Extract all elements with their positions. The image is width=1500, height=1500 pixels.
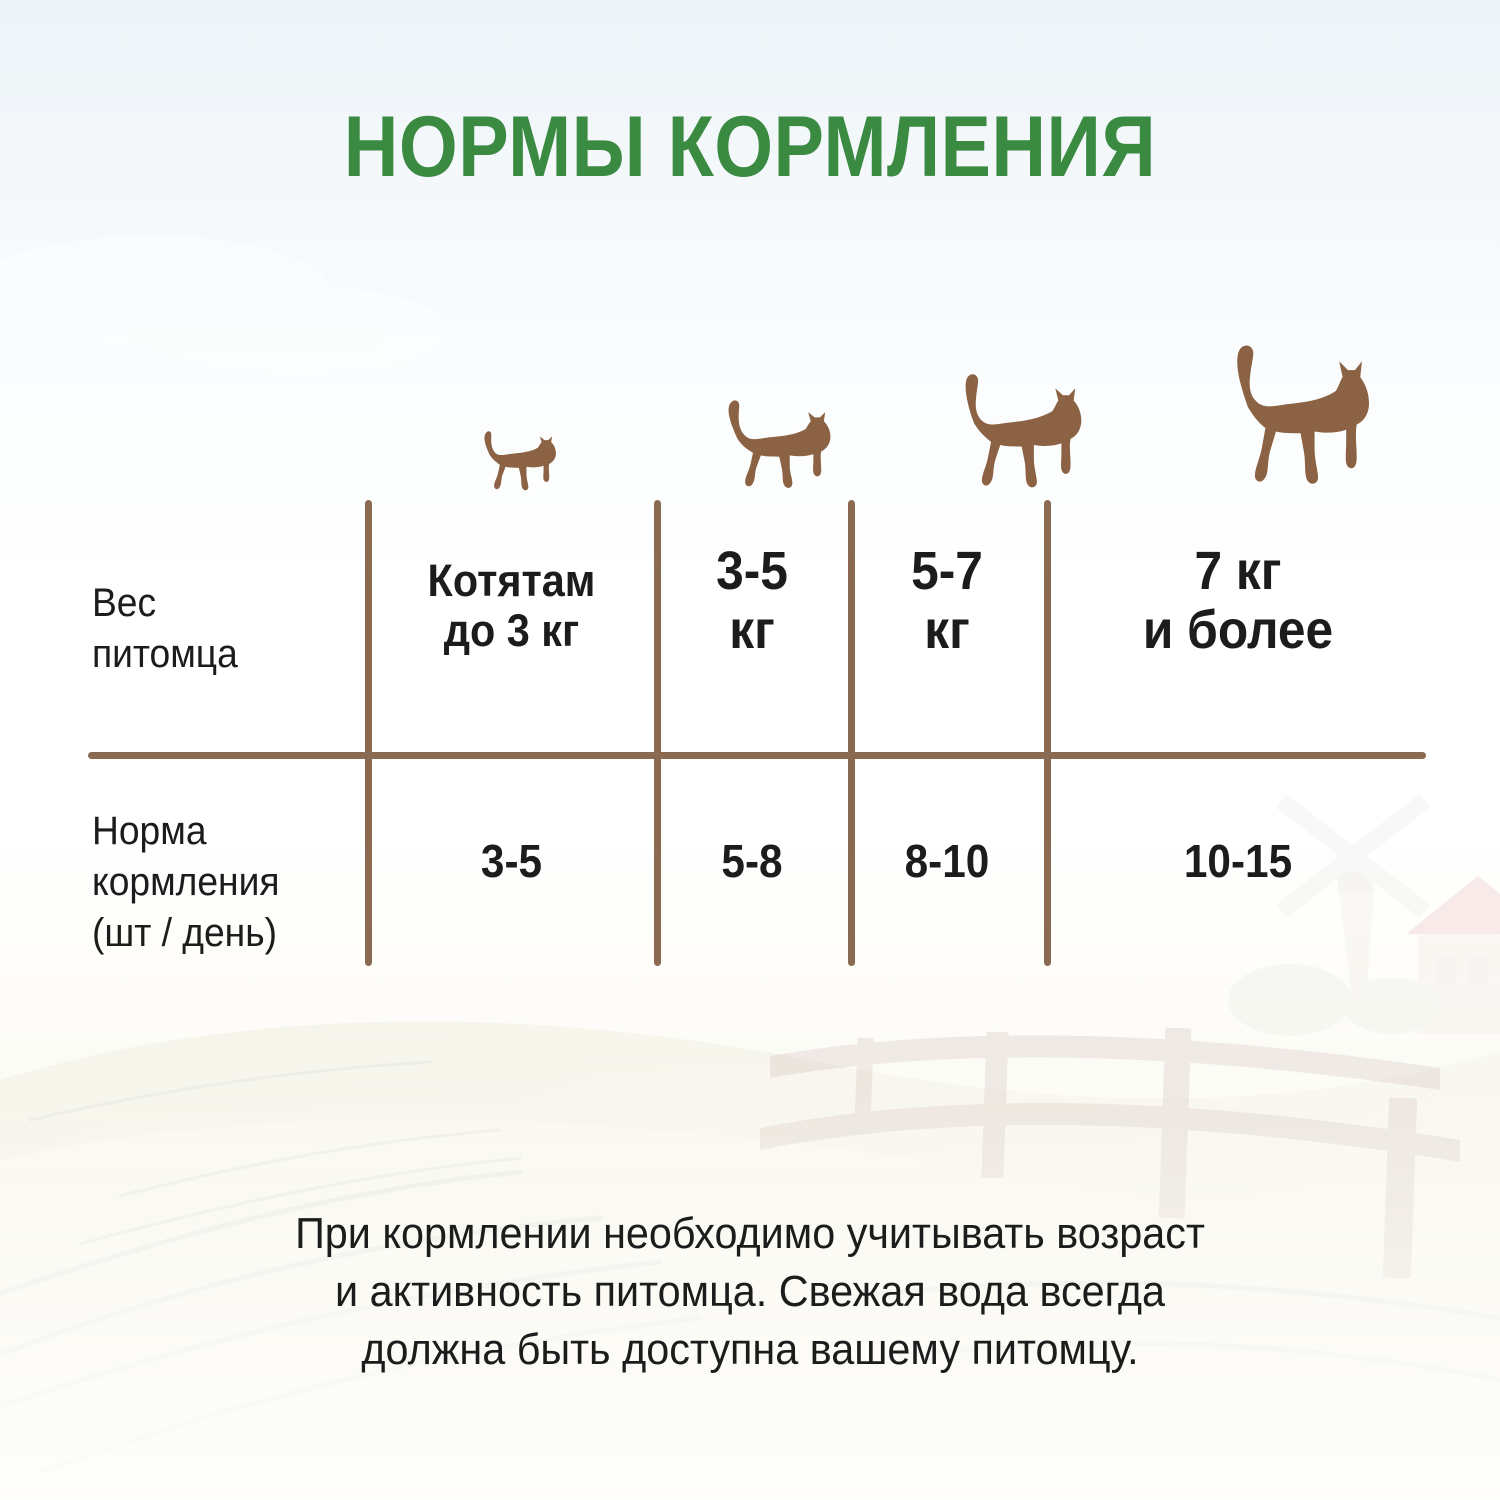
cat-small-icon: [708, 395, 840, 500]
header-cell-2: 3-5 кг: [665, 542, 840, 661]
column-divider-3: [848, 500, 855, 966]
column-divider-2: [654, 500, 661, 966]
row-label-weight: Вес питомца: [92, 578, 334, 680]
header-cell-3: 5-7 кг: [859, 542, 1036, 661]
row-label-norm: Норма кормления (шт / день): [92, 806, 343, 960]
cat-size-illustrations: [360, 300, 1450, 500]
footnote-text: При кормлении необходимо учитывать возра…: [45, 1205, 1455, 1379]
cat-kitten-icon: [468, 424, 564, 500]
cat-medium-icon: [932, 370, 1096, 500]
page-title: НОРМЫ КОРМЛЕНИЯ: [90, 104, 1410, 190]
column-divider-4: [1044, 500, 1051, 966]
value-cell-1: 3-5: [381, 838, 641, 884]
value-cell-2: 5-8: [665, 838, 840, 884]
row-divider: [88, 752, 1426, 759]
cat-large-icon: [1190, 342, 1390, 500]
value-cell-4: 10-15: [1062, 838, 1413, 884]
header-cell-4: 7 кг и более: [1062, 542, 1413, 661]
column-divider-1: [365, 500, 372, 966]
feeding-guide-page: НОРМЫ КОРМЛЕНИЯ Вес питомца: [0, 0, 1500, 1500]
value-cell-3: 8-10: [859, 838, 1036, 884]
header-cell-1: Котятам до 3 кг: [381, 556, 641, 655]
